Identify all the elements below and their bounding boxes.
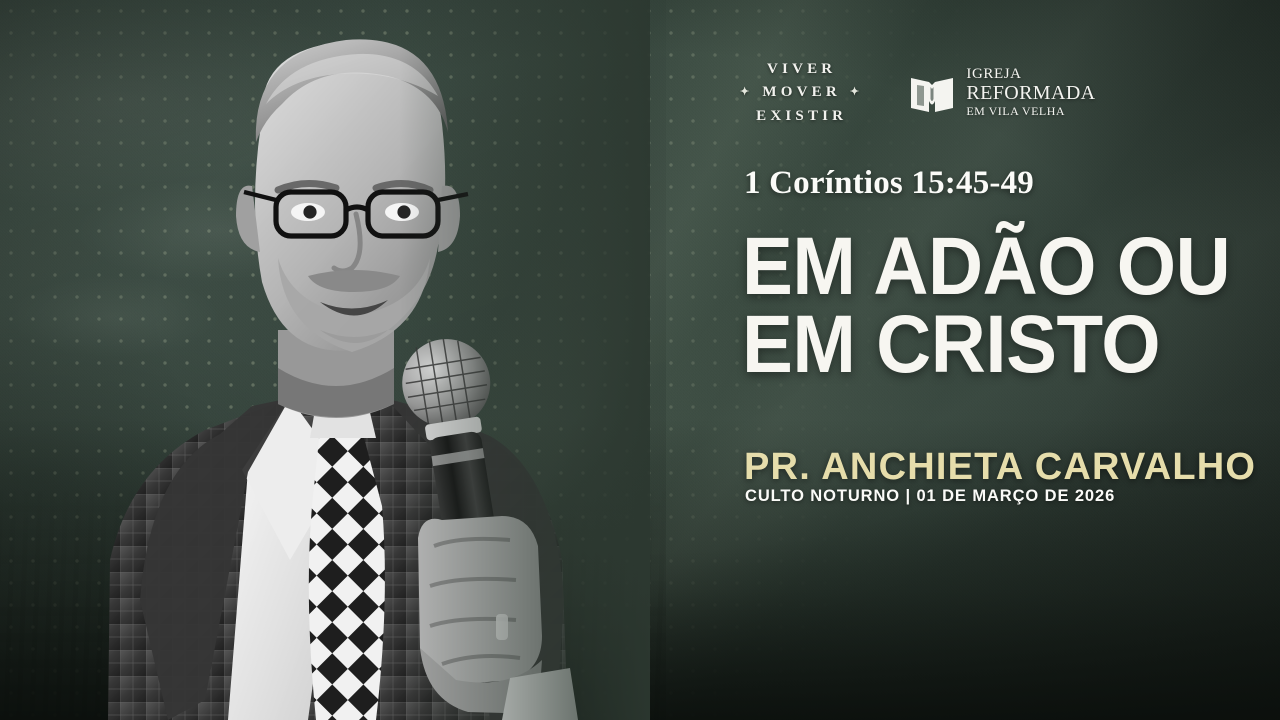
scripture-reference: 1 Coríntios 15:45-49: [744, 165, 1034, 202]
tagline-line-1: VIVER: [767, 58, 836, 81]
church-logo: IGREJA REFORMADA EM VILA VELHA: [909, 67, 1095, 119]
tagline-text-mover: MOVER: [762, 81, 841, 104]
logo-line-igreja: IGREJA: [966, 67, 1095, 83]
sermon-announcement-poster: VIVER ✦ MOVER ✦ EXISTIR: [0, 0, 1280, 720]
church-logo-wordmark: IGREJA REFORMADA EM VILA VELHA: [966, 67, 1095, 119]
sermon-title-line-1: EM ADÃO OU: [742, 228, 1230, 306]
speaker-name: PR. ANCHIETA CARVALHO: [744, 446, 1256, 489]
tagline-line-3: EXISTIR: [756, 105, 847, 128]
poster-header: VIVER ✦ MOVER ✦ EXISTIR: [740, 58, 1096, 128]
brand-tagline: VIVER ✦ MOVER ✦ EXISTIR: [740, 58, 863, 128]
sermon-title-line-2: EM CRISTO: [742, 306, 1230, 384]
tagline-line-2: ✦ MOVER ✦: [740, 81, 863, 104]
sparkle-icon-left: ✦: [740, 87, 753, 98]
event-details: CULTO NOTURNO | 01 DE MARÇO DE 2026: [745, 487, 1115, 506]
sermon-title: EM ADÃO OU EM CRISTO: [742, 228, 1230, 384]
open-book-icon: [909, 71, 955, 115]
sparkle-icon-right: ✦: [850, 87, 863, 98]
speaker-portrait: [0, 0, 650, 720]
logo-line-location: EM VILA VELHA: [966, 104, 1095, 118]
content-column: VIVER ✦ MOVER ✦ EXISTIR: [736, 0, 1280, 720]
tagline-text-viver: VIVER: [767, 58, 836, 81]
logo-line-reformada: REFORMADA: [966, 83, 1095, 105]
tagline-text-existir: EXISTIR: [756, 105, 847, 128]
